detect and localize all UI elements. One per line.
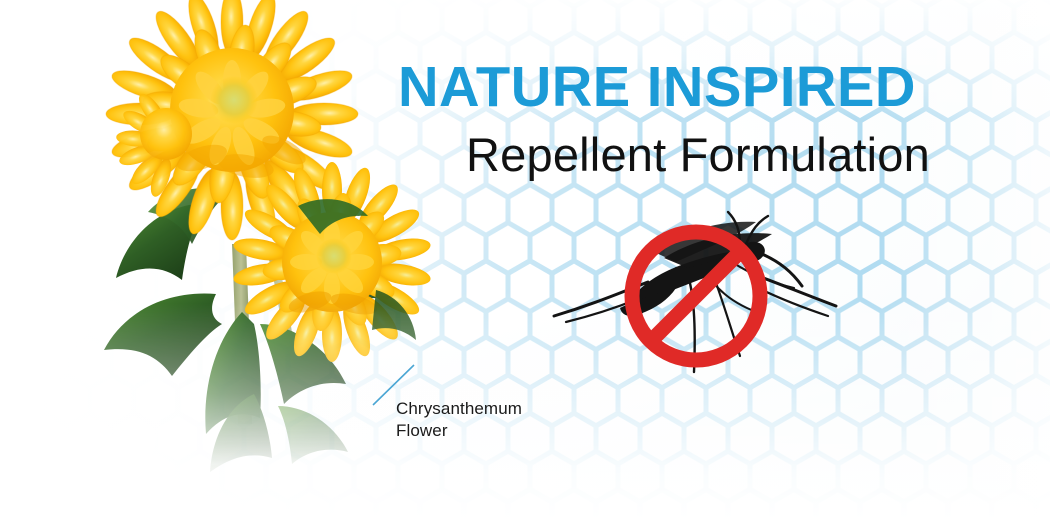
no-mosquito-icon — [536, 196, 856, 396]
chrysanthemum-flower-image — [46, 0, 446, 494]
page-title: NATURE INSPIRED — [398, 58, 1009, 116]
nature-inspired-banner: NATURE INSPIRED Repellent Formulation — [0, 0, 1050, 520]
callout-label: Chrysanthemum Flower — [396, 398, 522, 442]
headline-block: NATURE INSPIRED Repellent Formulation — [398, 58, 1018, 179]
page-subtitle: Repellent Formulation — [466, 130, 1018, 179]
